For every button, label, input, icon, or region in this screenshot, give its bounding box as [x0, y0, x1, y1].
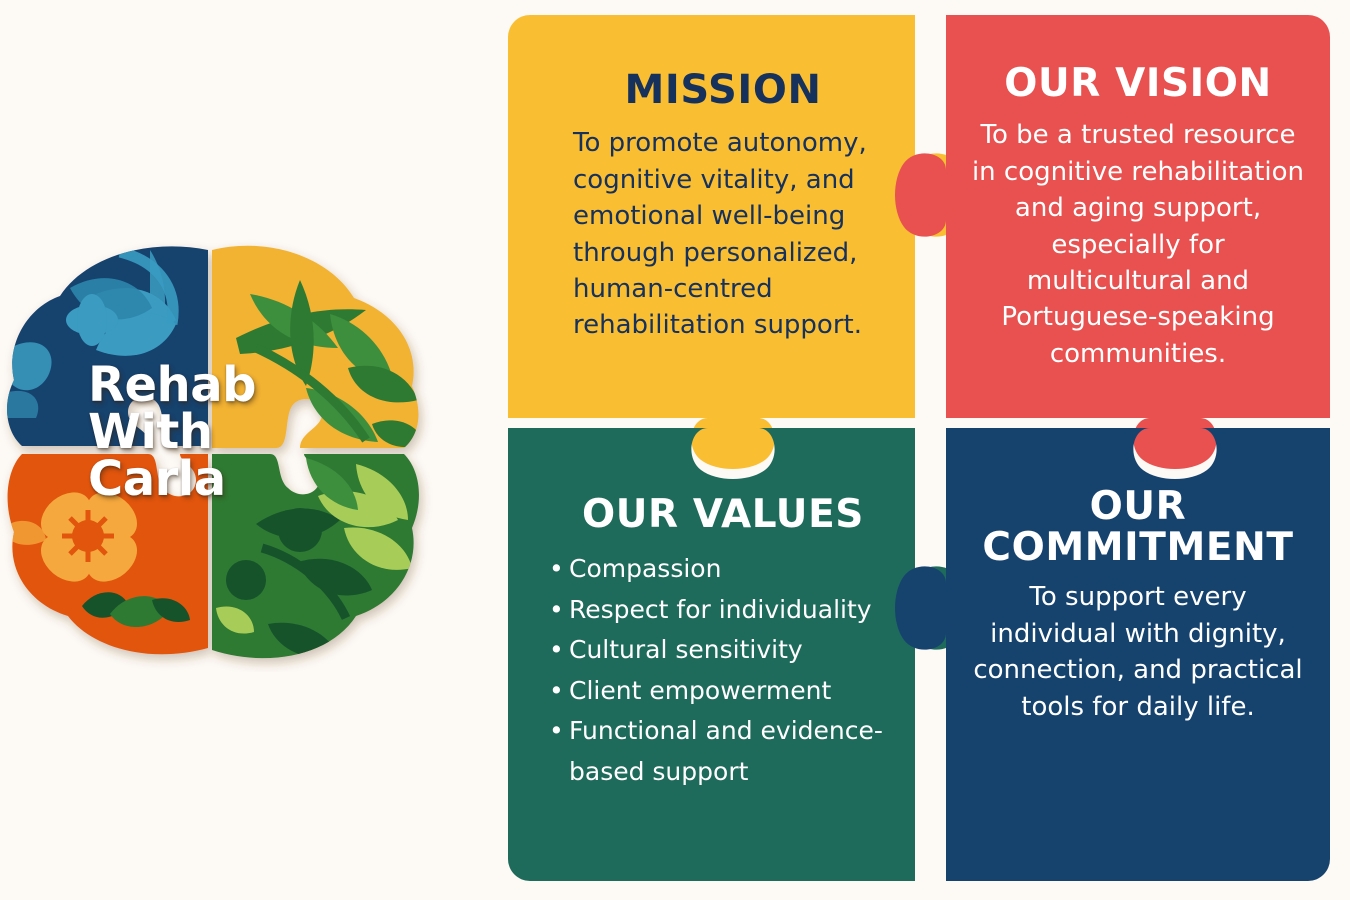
puzzle-piece-commitment: [895, 428, 1330, 881]
puzzle-graphic: [508, 15, 1330, 881]
brain-puzzle-logo-icon: [0, 228, 440, 672]
logo: Rehab With Carla: [0, 228, 440, 672]
puzzle-piece-mission: [508, 15, 966, 469]
infographic-canvas: Rehab With Carla MISSION To promote auto…: [0, 0, 1350, 900]
puzzle-piece-vision: [895, 15, 1330, 469]
puzzle-piece-values: [508, 428, 966, 881]
